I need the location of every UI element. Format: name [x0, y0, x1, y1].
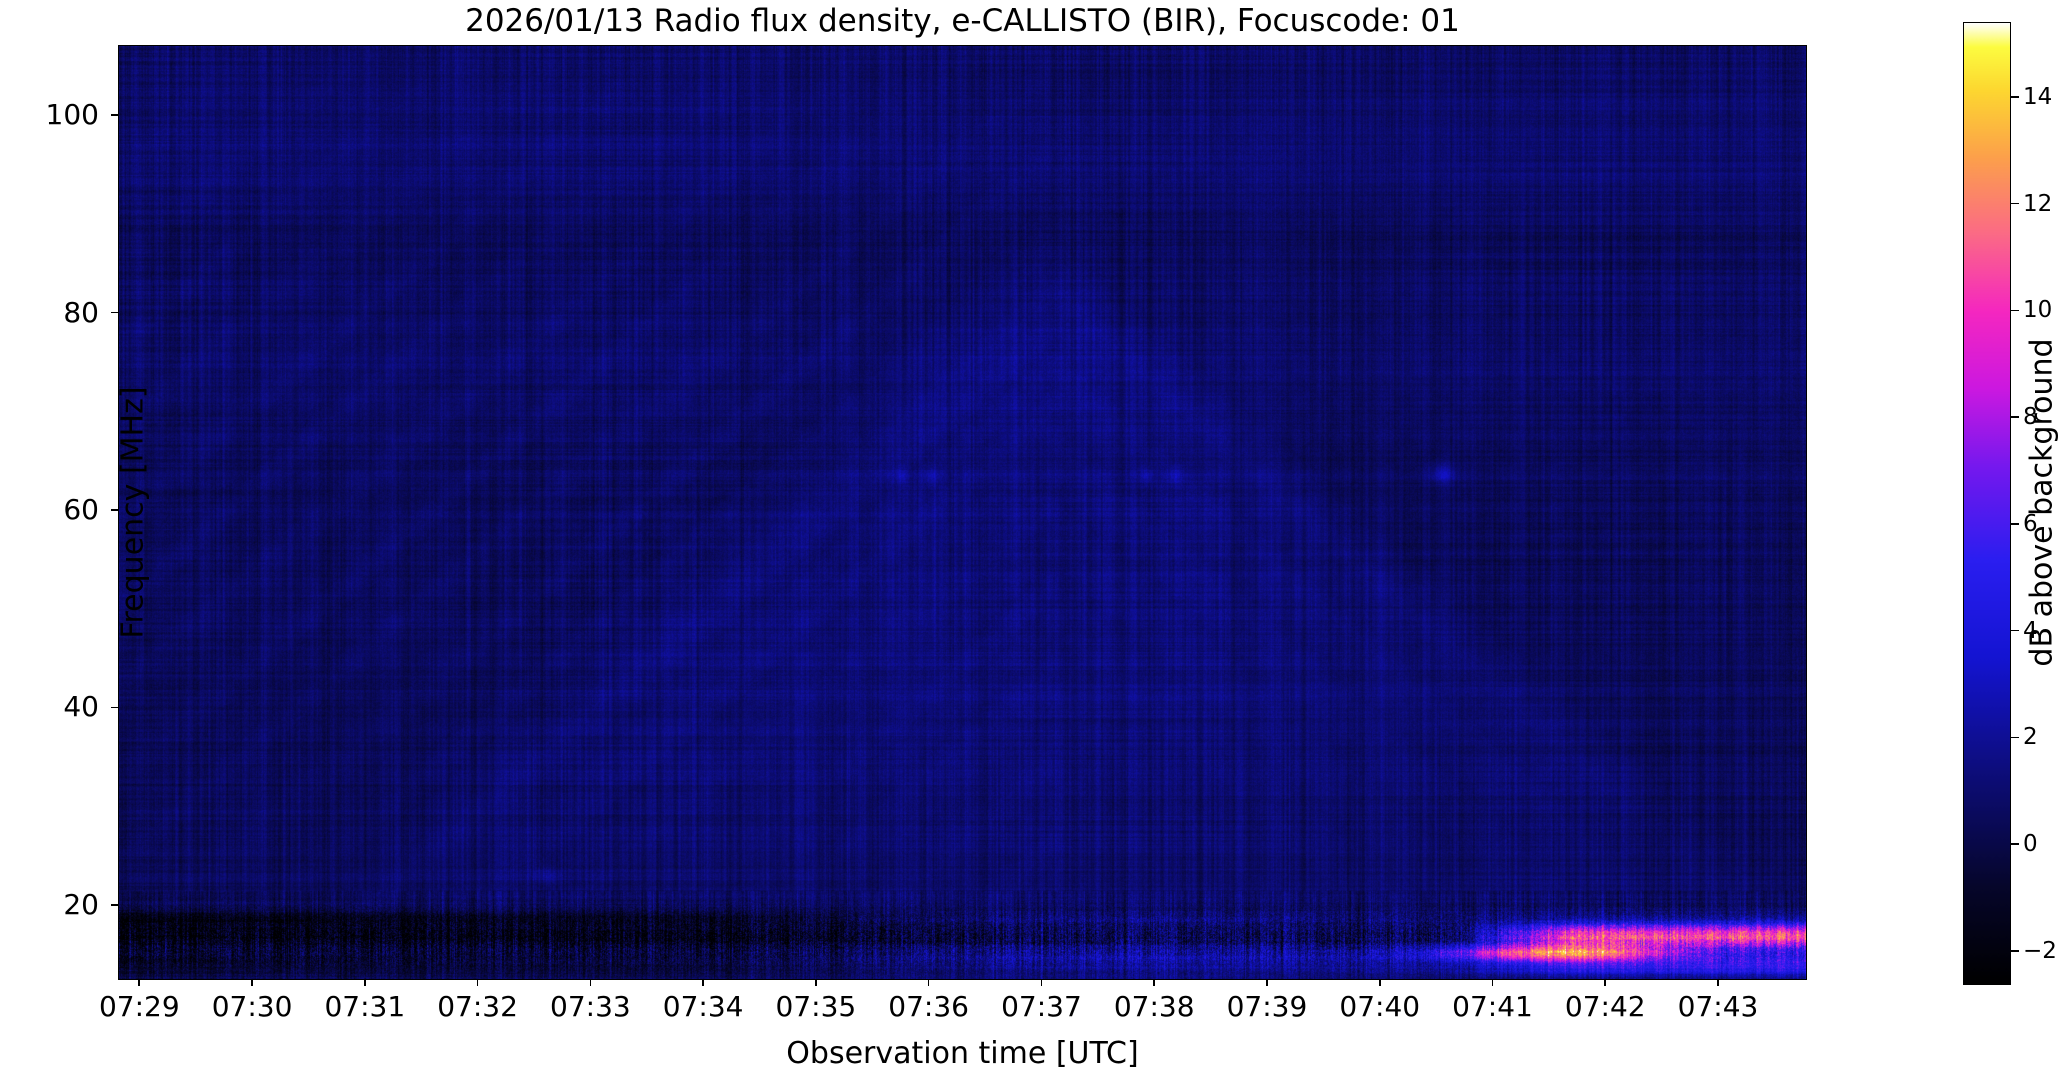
x-tick-mark: [1379, 979, 1381, 986]
colorbar-label-text: dB above background: [2025, 338, 2060, 666]
x-tick-mark: [1153, 979, 1155, 986]
y-tick-label: 20: [63, 891, 99, 919]
x-tick-mark: [251, 979, 253, 986]
colorbar-tick-mark: [2011, 96, 2019, 98]
colorbar-tick-mark: [2011, 843, 2019, 845]
x-tick-mark: [1604, 979, 1606, 986]
spectrogram-axes: 10080604020 07:2907:3007:3107:3207:3307:…: [118, 45, 1807, 980]
x-tick-mark: [815, 979, 817, 986]
colorbar-tick-mark: [2011, 630, 2019, 632]
colorbar-tick-mark: [2011, 416, 2019, 418]
x-tick-mark: [1041, 979, 1043, 986]
page-title: 2026/01/13 Radio flux density, e-CALLIST…: [0, 2, 1925, 40]
y-tick-label: 80: [63, 299, 99, 327]
y-tick-label: 60: [63, 496, 99, 524]
y-axis-label-text: Frequency [MHz]: [116, 386, 151, 638]
figure-canvas: 2026/01/13 Radio flux density, e-CALLIST…: [0, 0, 2066, 1067]
x-tick-mark: [1717, 979, 1719, 986]
x-tick-mark: [1266, 979, 1268, 986]
colorbar-tick-mark: [2011, 523, 2019, 525]
x-axis-label: Observation time [UTC]: [119, 1036, 1806, 1071]
x-tick-mark: [1492, 979, 1494, 986]
colorbar-tick-mark: [2011, 203, 2019, 205]
x-tick-mark: [138, 979, 140, 986]
colorbar: [1963, 22, 2011, 985]
y-tick-label: 40: [63, 693, 99, 721]
colorbar-tick-mark: [2011, 950, 2019, 952]
x-tick-mark: [477, 979, 479, 986]
x-tick-label: 07:43: [1648, 993, 1788, 1021]
y-axis-label: Frequency [MHz]: [113, 46, 153, 979]
colorbar-tick-mark: [2011, 737, 2019, 739]
x-tick-mark: [702, 979, 704, 986]
x-tick-mark: [928, 979, 930, 986]
x-tick-mark: [364, 979, 366, 986]
spectrogram-image: [119, 46, 1806, 979]
x-tick-mark: [590, 979, 592, 986]
colorbar-gradient: [1964, 23, 2010, 984]
y-tick-label: 100: [46, 101, 99, 129]
colorbar-tick-mark: [2011, 310, 2019, 312]
colorbar-label: dB above background: [2020, 22, 2064, 983]
